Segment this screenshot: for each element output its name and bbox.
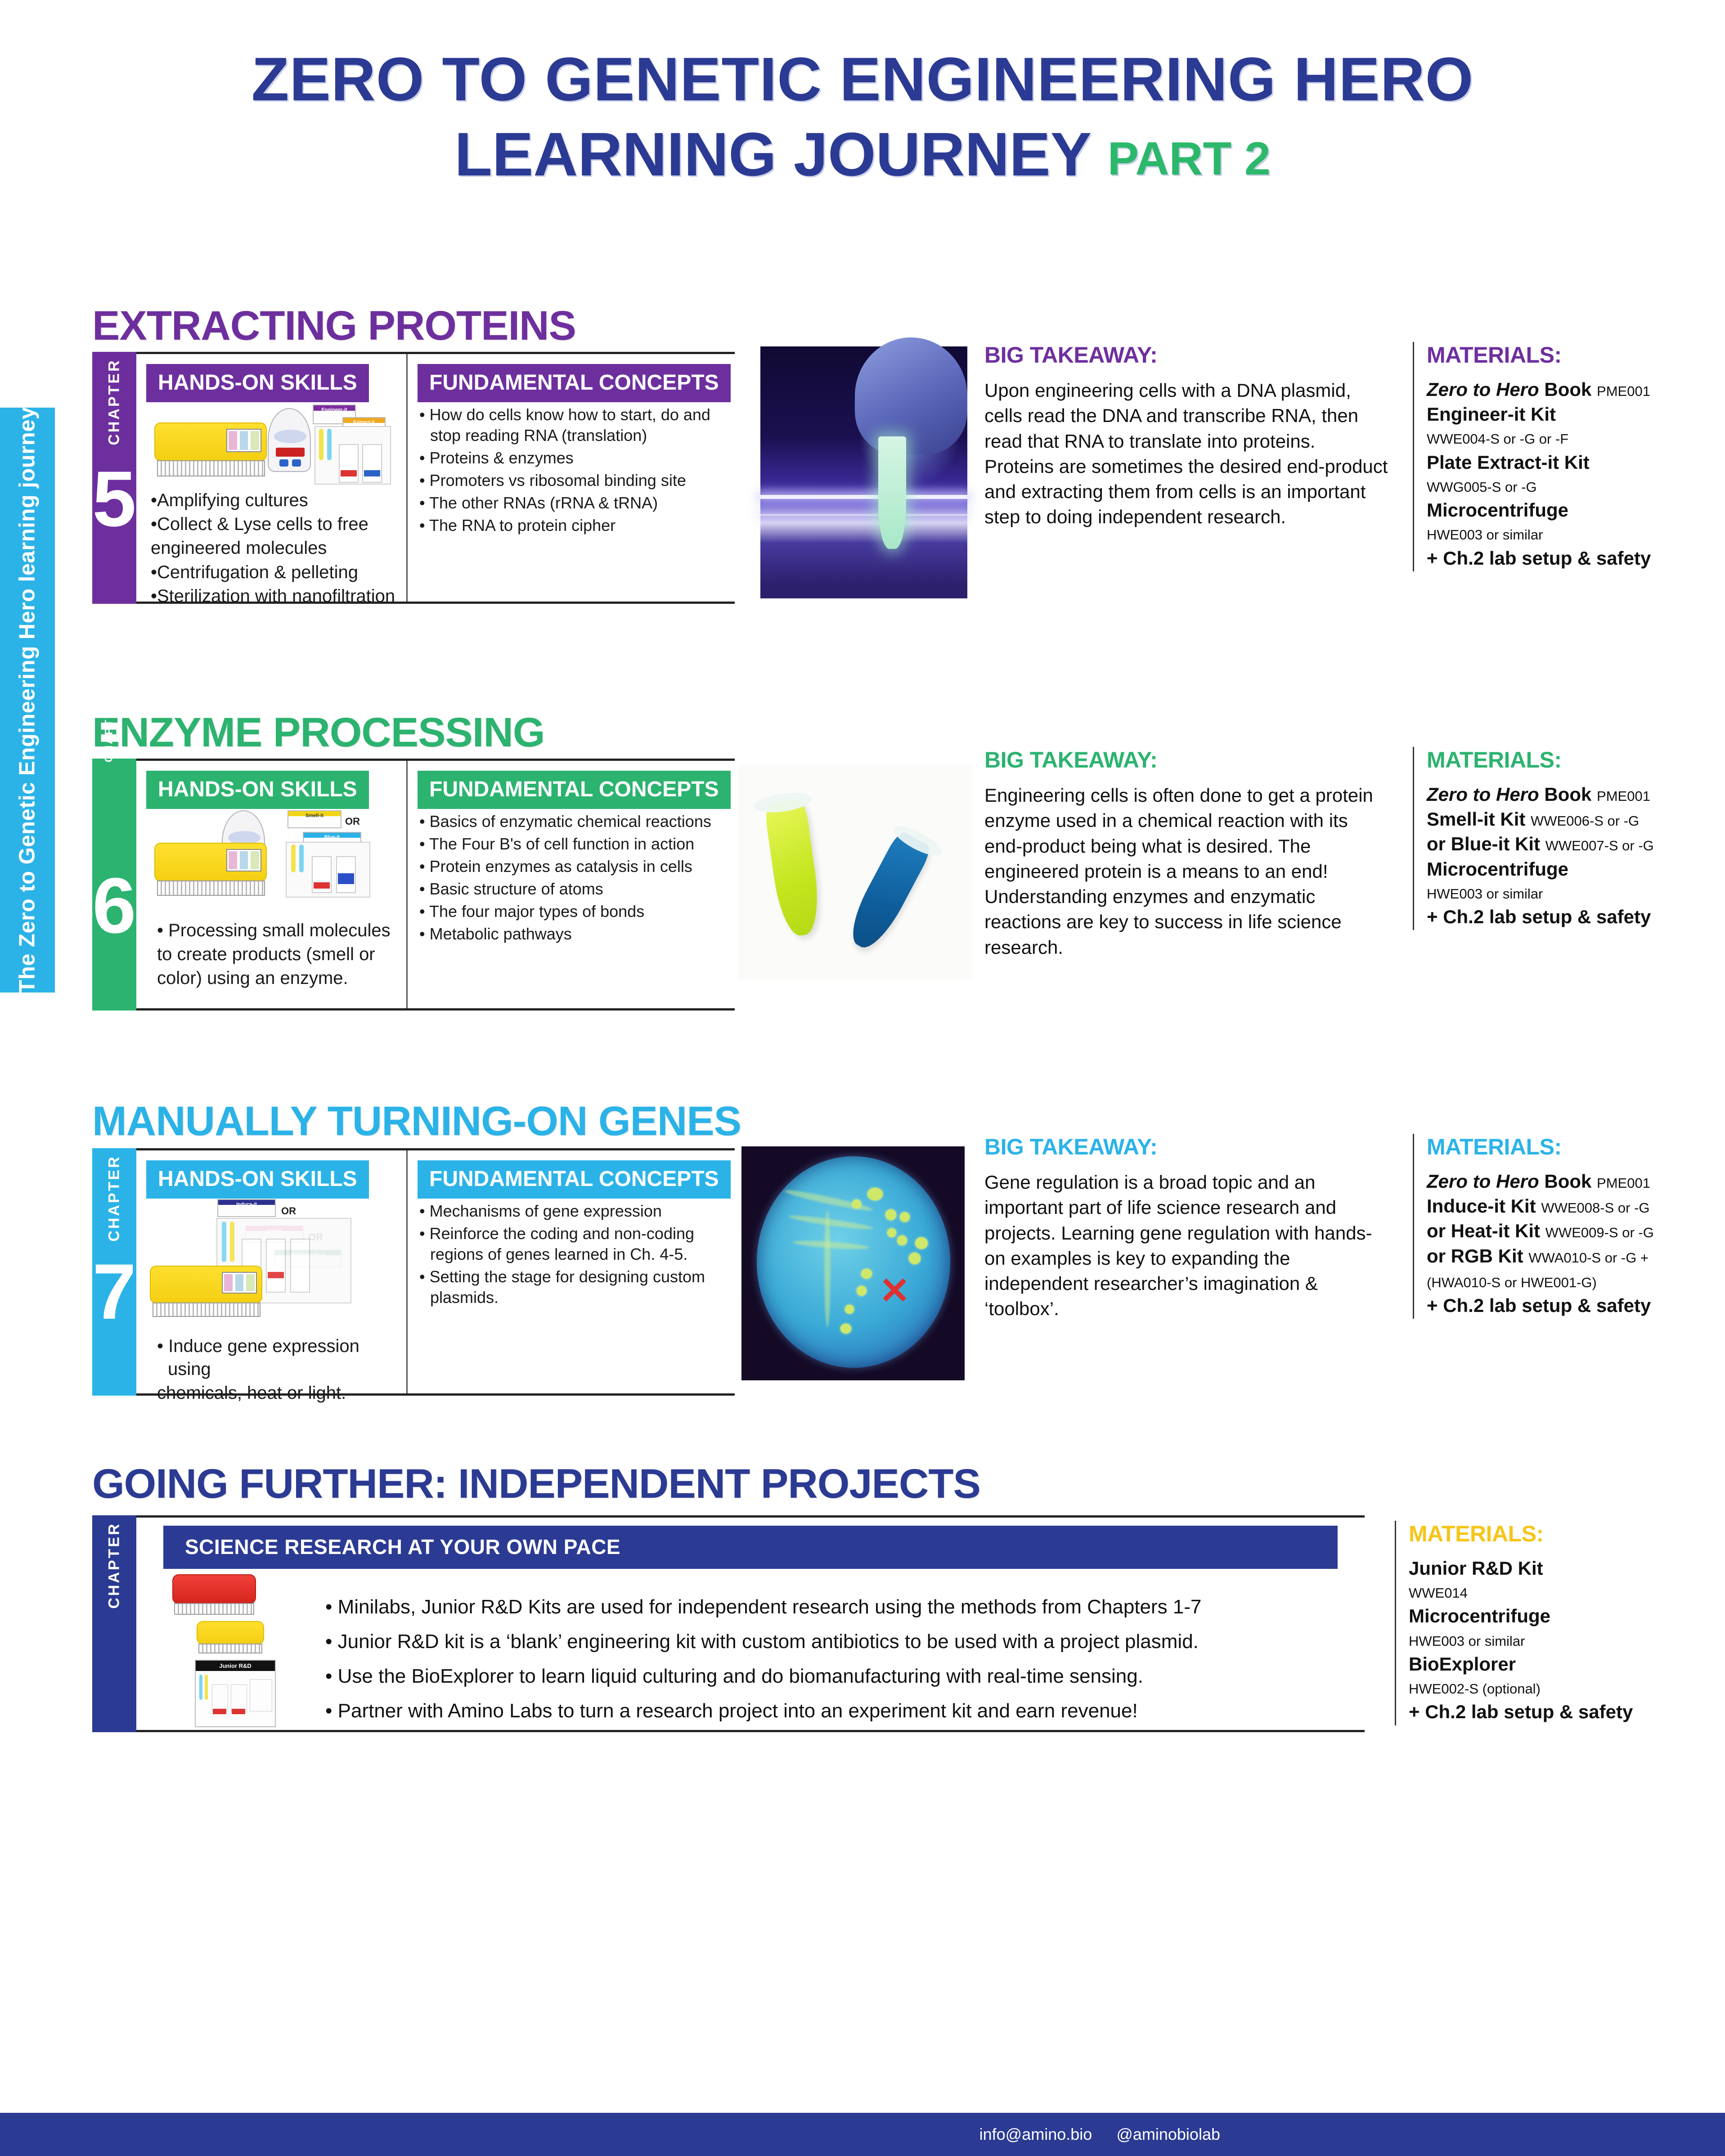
list-item: engineered molecules [151, 537, 403, 560]
photo-tubes-ch6 [738, 765, 972, 981]
minilab-fins-icon [157, 880, 265, 896]
list-item: • Junior R&D kit is a ‘blank’ engineerin… [325, 1624, 1342, 1659]
material-item: + Ch.2 lab setup & safety [1427, 905, 1701, 928]
content-box-ch7: HANDS-ON SKILLS Induce-it OR Heat-it OR … [136, 1148, 735, 1396]
content-box-going-further: SCIENCE RESEARCH AT YOUR OWN PACE Junior… [136, 1515, 1365, 1732]
material-item: or RGB Kit WWA010-S or -G + [1427, 1244, 1701, 1267]
petri-dish-icon: ✕ [757, 1156, 950, 1368]
minilab-screen-icon [222, 1272, 257, 1294]
chapter-number-6: 6 [92, 871, 136, 942]
big-takeaway-heading-5: BIG TAKEAWAY: [984, 342, 1389, 368]
material-item: or Blue-it Kit WWE007-S or -G [1427, 832, 1701, 855]
fundamental-concepts-bullets-6: • Basics of enzymatic chemical reactions… [419, 811, 730, 946]
materials-list-6: Zero to Hero Book PME001 Smell-it Kit WW… [1427, 783, 1701, 928]
red-x-marker-icon: ✕ [879, 1270, 910, 1312]
fundamental-concepts-bullets-5: • How do cells know how to start, do and… [419, 404, 730, 538]
material-item: (HWA010-S or HWE001-G) [1427, 1269, 1701, 1292]
list-item: color) using an enzyme. [157, 967, 400, 990]
materials-list-7: Zero to Hero Book PME001 Induce-it Kit W… [1427, 1170, 1701, 1317]
list-item: to create products (smell or [157, 943, 400, 966]
hands-on-skills-bullets-6: • Processing small molecules to create p… [157, 919, 400, 991]
material-item: Zero to Hero Book PME001 [1427, 378, 1701, 401]
list-item: • Mechanisms of gene expression [419, 1201, 730, 1222]
blue-tube-icon [842, 830, 934, 955]
list-item: • Basic structure of atoms [419, 879, 730, 899]
fundamental-concepts-heading-6: FUNDAMENTAL CONCEPTS [418, 771, 731, 809]
list-item: • Induce gene expression using [157, 1335, 400, 1381]
big-takeaway-ch7: BIG TAKEAWAY: Gene regulation is a broad… [984, 1134, 1389, 1322]
materials-list-5: Zero to Hero Book PME001 Engineer-it Kit… [1427, 378, 1701, 570]
page-header: ZERO TO GENETIC ENGINEERING HERO LEARNIN… [0, 0, 1725, 185]
material-item: BioExplorerHWE002-S (optional) [1409, 1653, 1683, 1698]
page-title-line-2-text: LEARNING JOURNEY [454, 120, 1090, 189]
materials-ch5: MATERIALS: Zero to Hero Book PME001 Engi… [1413, 342, 1701, 571]
photo-petri-dish-ch7: ✕ [741, 1146, 965, 1380]
list-item: •Centrifugation & pelleting [151, 561, 403, 584]
materials-ch6: MATERIALS: Zero to Hero Book PME001 Smel… [1413, 747, 1701, 930]
list-item: •Sterilization with nanofiltration [151, 585, 403, 608]
big-takeaway-ch6: BIG TAKEAWAY: Engineering cells is often… [984, 747, 1389, 960]
chapter-strip-going-further: CHAPTER [92, 1515, 136, 1732]
junior-rd-pack-icon: Junior R&D [195, 1660, 276, 1727]
big-takeaway-body-6: Engineering cells is often done to get a… [984, 783, 1389, 960]
materials-ch7: MATERIALS: Zero to Hero Book PME001 Indu… [1413, 1134, 1701, 1319]
material-item: + Ch.2 lab setup & safety [1427, 547, 1701, 570]
material-item: Plate Extract-it KitWWG005-S or -G [1427, 451, 1701, 497]
kit-tubes-icon [314, 426, 391, 485]
chapter-word-going-further: CHAPTER [106, 1522, 123, 1608]
big-takeaway-heading-6: BIG TAKEAWAY: [984, 747, 1389, 773]
materials-heading-going-further: MATERIALS: [1409, 1521, 1683, 1547]
chapter-number-5: 5 [92, 464, 136, 535]
part-label: PART 2 [1108, 133, 1271, 185]
material-item: Induce-it Kit WWE008-S or -G [1427, 1195, 1701, 1217]
kit-illustration-going-further: Junior R&D [168, 1574, 303, 1727]
material-item: Junior R&D KitWWE014 [1409, 1557, 1683, 1603]
big-takeaway-heading-7: BIG TAKEAWAY: [984, 1134, 1389, 1160]
minilab-screen-icon [226, 849, 261, 871]
materials-list-going-further: Junior R&D KitWWE014 MicrocentrifugeHWE0… [1409, 1557, 1683, 1724]
content-box-ch5: HANDS-ON SKILLS Engineer-it [136, 352, 735, 604]
kit-illustration-ch7: Induce-it OR Heat-it OR RedGreenBlue [150, 1199, 402, 1316]
section-title-ch5: EXTRACTING PROTEINS [92, 302, 576, 350]
going-further-bullets: • Minilabs, Junior R&D Kits are used for… [325, 1590, 1342, 1728]
hands-on-skills-col-5: HANDS-ON SKILLS Engineer-it [136, 354, 406, 602]
hands-on-skills-col-7: HANDS-ON SKILLS Induce-it OR Heat-it OR … [136, 1150, 406, 1393]
big-takeaway-body-7: Gene regulation is a broad topic and an … [984, 1170, 1389, 1322]
minilab-fins-icon [157, 460, 265, 476]
materials-heading-6: MATERIALS: [1427, 747, 1701, 773]
footer-email[interactable]: info@amino.bio [979, 2125, 1092, 2144]
page-title-line-1: ZERO TO GENETIC ENGINEERING HERO [0, 49, 1725, 110]
list-item: • Minilabs, Junior R&D Kits are used for… [325, 1590, 1342, 1624]
page-footer: info@amino.bio @aminobiolab [0, 2113, 1725, 2156]
footer-handle[interactable]: @aminobiolab [1116, 2125, 1220, 2144]
materials-going-further: MATERIALS: Junior R&D KitWWE014 Microcen… [1395, 1521, 1683, 1725]
hands-on-skills-heading-5: HANDS-ON SKILLS [146, 364, 369, 402]
material-item: or Heat-it Kit WWE009-S or -G [1427, 1219, 1701, 1242]
content-box-ch6: HANDS-ON SKILLS Smell-it OR Blue-it [136, 759, 735, 1011]
big-takeaway-ch5: BIG TAKEAWAY: Upon engineering cells wit… [984, 342, 1389, 530]
section-title-ch6: ENZYME PROCESSING [92, 709, 544, 756]
material-item: Engineer-it KitWWE004-S or -G or -F [1427, 403, 1701, 449]
kit-tubes-icon [286, 842, 370, 898]
chapter-strip-6: CHAPTER 6 [92, 759, 136, 1011]
material-item: + Ch.2 lab setup & safety [1409, 1700, 1683, 1723]
list-item: •Collect & Lyse cells to free [151, 513, 403, 536]
chapter-strip-7: CHAPTER 7 [92, 1148, 136, 1396]
material-item: Zero to Hero Book PME001 [1427, 1170, 1701, 1193]
hands-on-skills-col-6: HANDS-ON SKILLS Smell-it OR Blue-it [136, 761, 406, 1008]
fundamental-concepts-heading-5: FUNDAMENTAL CONCEPTS [418, 364, 731, 402]
fundamental-concepts-col-7: FUNDAMENTAL CONCEPTS • Mechanisms of gen… [406, 1150, 735, 1393]
list-item: • Proteins & enzymes [419, 448, 730, 468]
section-title-ch7: MANUALLY TURNING-ON GENES [92, 1098, 741, 1145]
list-item: • The RNA to protein cipher [419, 515, 730, 536]
chapter-word-overlay-6: CHAPTER [95, 709, 122, 754]
induce-it-pack-icon: Induce-it [217, 1199, 276, 1217]
minilab-yellow-fins-icon [198, 1644, 262, 1653]
material-item: MicrocentrifugeHWE003 or similar [1409, 1604, 1683, 1650]
fundamental-concepts-col-6: FUNDAMENTAL CONCEPTS • Basics of enzymat… [406, 761, 735, 1008]
hands-on-skills-bullets-5: •Amplifying cultures •Collect & Lyse cel… [151, 489, 403, 609]
hands-on-skills-bullets-7: • Induce gene expression using chemicals… [157, 1335, 400, 1406]
kit-illustration-ch6: Smell-it OR Blue-it [154, 810, 397, 900]
or-label-icon: OR [345, 816, 360, 827]
side-ribbon: The Zero to Genetic Engineering Hero lea… [0, 408, 55, 993]
hands-on-skills-heading-7: HANDS-ON SKILLS [146, 1160, 369, 1199]
list-item: chemicals, heat or light. [157, 1382, 400, 1405]
materials-heading-5: MATERIALS: [1427, 342, 1701, 368]
list-item: • Processing small molecules [157, 919, 400, 942]
chapter-number-7: 7 [92, 1257, 136, 1328]
list-item: • Reinforce the coding and non-coding re… [419, 1223, 730, 1265]
chapter-word-5: CHAPTER [106, 359, 123, 445]
minilab-fins-icon [153, 1303, 261, 1317]
big-takeaway-body-5: Upon engineering cells with a DNA plasmi… [984, 378, 1389, 530]
chapter-word-7: CHAPTER [106, 1155, 123, 1241]
list-item: • Metabolic pathways [419, 924, 730, 944]
list-item: •Amplifying cultures [151, 489, 403, 512]
fundamental-concepts-col-5: FUNDAMENTAL CONCEPTS • How do cells know… [406, 354, 735, 602]
smell-it-pack-icon: Smell-it [287, 810, 341, 828]
minilab-screen-icon [226, 429, 261, 452]
list-item: • The Four B's of cell function in actio… [419, 834, 730, 854]
fundamental-concepts-bullets-7: • Mechanisms of gene expression • Reinfo… [419, 1201, 730, 1310]
minilab-red-icon [172, 1574, 256, 1604]
list-item: • Promoters vs ribosomal binding site [419, 470, 730, 491]
minilab-yellow-icon [197, 1621, 264, 1644]
photo-uv-tube-ch5 [760, 346, 967, 598]
fundamental-concepts-heading-7: FUNDAMENTAL CONCEPTS [418, 1160, 731, 1199]
going-further-banner: SCIENCE RESEARCH AT YOUR OWN PACE [163, 1526, 1338, 1569]
hands-on-skills-heading-6: HANDS-ON SKILLS [146, 771, 369, 809]
chapter-strip-5: CHAPTER 5 [92, 352, 136, 604]
list-item: • Protein enzymes as catalysis in cells [419, 856, 730, 877]
material-item: MicrocentrifugeHWE003 or similar [1427, 499, 1701, 544]
page-title-line-2: LEARNING JOURNEY PART 2 [0, 124, 1725, 185]
materials-heading-7: MATERIALS: [1427, 1134, 1701, 1160]
list-item: • How do cells know how to start, do and… [419, 404, 730, 446]
section-title-going-further: GOING FURTHER: INDEPENDENT PROJECTS [92, 1460, 980, 1508]
material-item: Zero to Hero Book PME001 [1427, 783, 1701, 806]
minilab-red-fins-icon [174, 1603, 254, 1615]
material-item: Smell-it Kit WWE006-S or -G [1427, 808, 1701, 831]
list-item: • Basics of enzymatic chemical reactions [419, 811, 730, 832]
microcentrifuge-icon [268, 408, 311, 472]
list-item: • The other RNAs (rRNA & tRNA) [419, 493, 730, 513]
list-item: • Use the BioExplorer to learn liquid cu… [325, 1659, 1342, 1693]
kit-illustration-ch5: Engineer-it Extract-it [154, 404, 397, 485]
material-item: MicrocentrifugeHWE003 or similar [1427, 858, 1701, 903]
green-tube-icon [764, 799, 824, 938]
list-item: • Partner with Amino Labs to turn a rese… [325, 1693, 1342, 1728]
list-item: • Setting the stage for designing custom… [419, 1267, 730, 1308]
side-ribbon-label: The Zero to Genetic Engineering Hero lea… [15, 407, 40, 993]
material-item: + Ch.2 lab setup & safety [1427, 1294, 1701, 1317]
list-item: • The four major types of bonds [419, 901, 730, 922]
or-label-icon: OR [281, 1205, 296, 1217]
